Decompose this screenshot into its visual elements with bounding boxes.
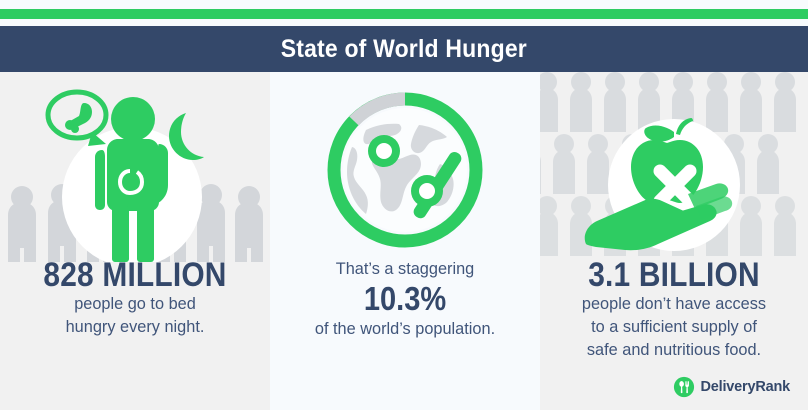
caption-hungry-people: 828 MILLION people go to bed hungry ever… (0, 258, 270, 339)
deliveryrank-logo[interactable]: DeliveryRank (673, 376, 791, 398)
caption-line-2: hungry every night. (5, 316, 264, 339)
top-padding (0, 0, 808, 9)
caption-line-1: people go to bed (5, 293, 264, 316)
stat-10-3-percent: 10.3% (286, 281, 524, 318)
panel-hungry-people: 828 MILLION people go to bed hungry ever… (0, 72, 270, 410)
caption-line-2: to a sufficient supply of (545, 316, 802, 339)
panels-container: 828 MILLION people go to bed hungry ever… (0, 72, 808, 410)
top-green-accent-bar (0, 9, 808, 19)
deliveryrank-logo-text: DeliveryRank (701, 379, 791, 395)
caption-food-access: 3.1 BILLION people don’t have access to … (540, 258, 808, 361)
caption-line-1: people don’t have access (545, 293, 802, 316)
accent-gap (0, 19, 808, 26)
stat-3-1-billion: 3.1 BILLION (556, 258, 792, 293)
header-bar: State of World Hunger (0, 26, 808, 72)
caption-lead-line: That’s a staggering (275, 258, 534, 281)
globe-percent-donut-icon (270, 72, 540, 262)
panel-world-percentage: That’s a staggering 10.3% of the world’s… (270, 72, 540, 410)
panel-food-access: 3.1 BILLION people don’t have access to … (540, 72, 808, 410)
caption-world-percentage: That’s a staggering 10.3% of the world’s… (270, 258, 540, 340)
deliveryrank-fork-spoon-icon (673, 376, 695, 398)
page-title: State of World Hunger (281, 35, 527, 64)
infographic-root: State of World Hunger (0, 0, 808, 410)
caption-trail-line: of the world’s population. (275, 318, 534, 341)
caption-line-3: safe and nutritious food. (545, 339, 802, 362)
hungry-person-moon-icon (0, 72, 270, 262)
stat-828-million: 828 MILLION (16, 258, 254, 293)
hand-holding-apple-x-icon (540, 72, 808, 262)
